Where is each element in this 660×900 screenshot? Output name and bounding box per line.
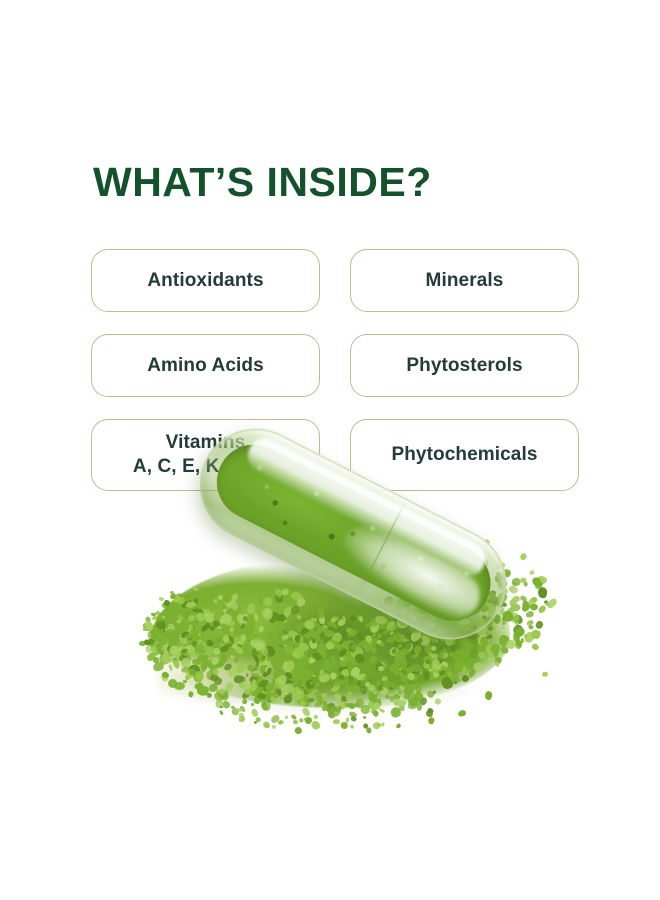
product-photo [110,470,560,745]
ingredient-card-label: Minerals [426,269,504,293]
ingredient-card-label: Antioxidants [147,269,263,293]
ingredient-card-antioxidants[interactable]: Antioxidants [91,249,320,312]
product-infographic: WHAT’S INSIDE? Antioxidants Minerals Ami… [0,0,660,900]
ingredient-card-minerals[interactable]: Minerals [350,249,579,312]
page-title: WHAT’S INSIDE? [93,160,432,204]
ingredient-card-label: Phytochemicals [391,443,537,467]
ingredient-card-label: Amino Acids [147,354,264,378]
ingredient-card-amino-acids[interactable]: Amino Acids [91,334,320,397]
ingredient-card-grid: Antioxidants Minerals Amino Acids Phytos… [91,249,579,491]
ingredient-card-phytosterols[interactable]: Phytosterols [350,334,579,397]
ingredient-card-label: Phytosterols [406,354,522,378]
